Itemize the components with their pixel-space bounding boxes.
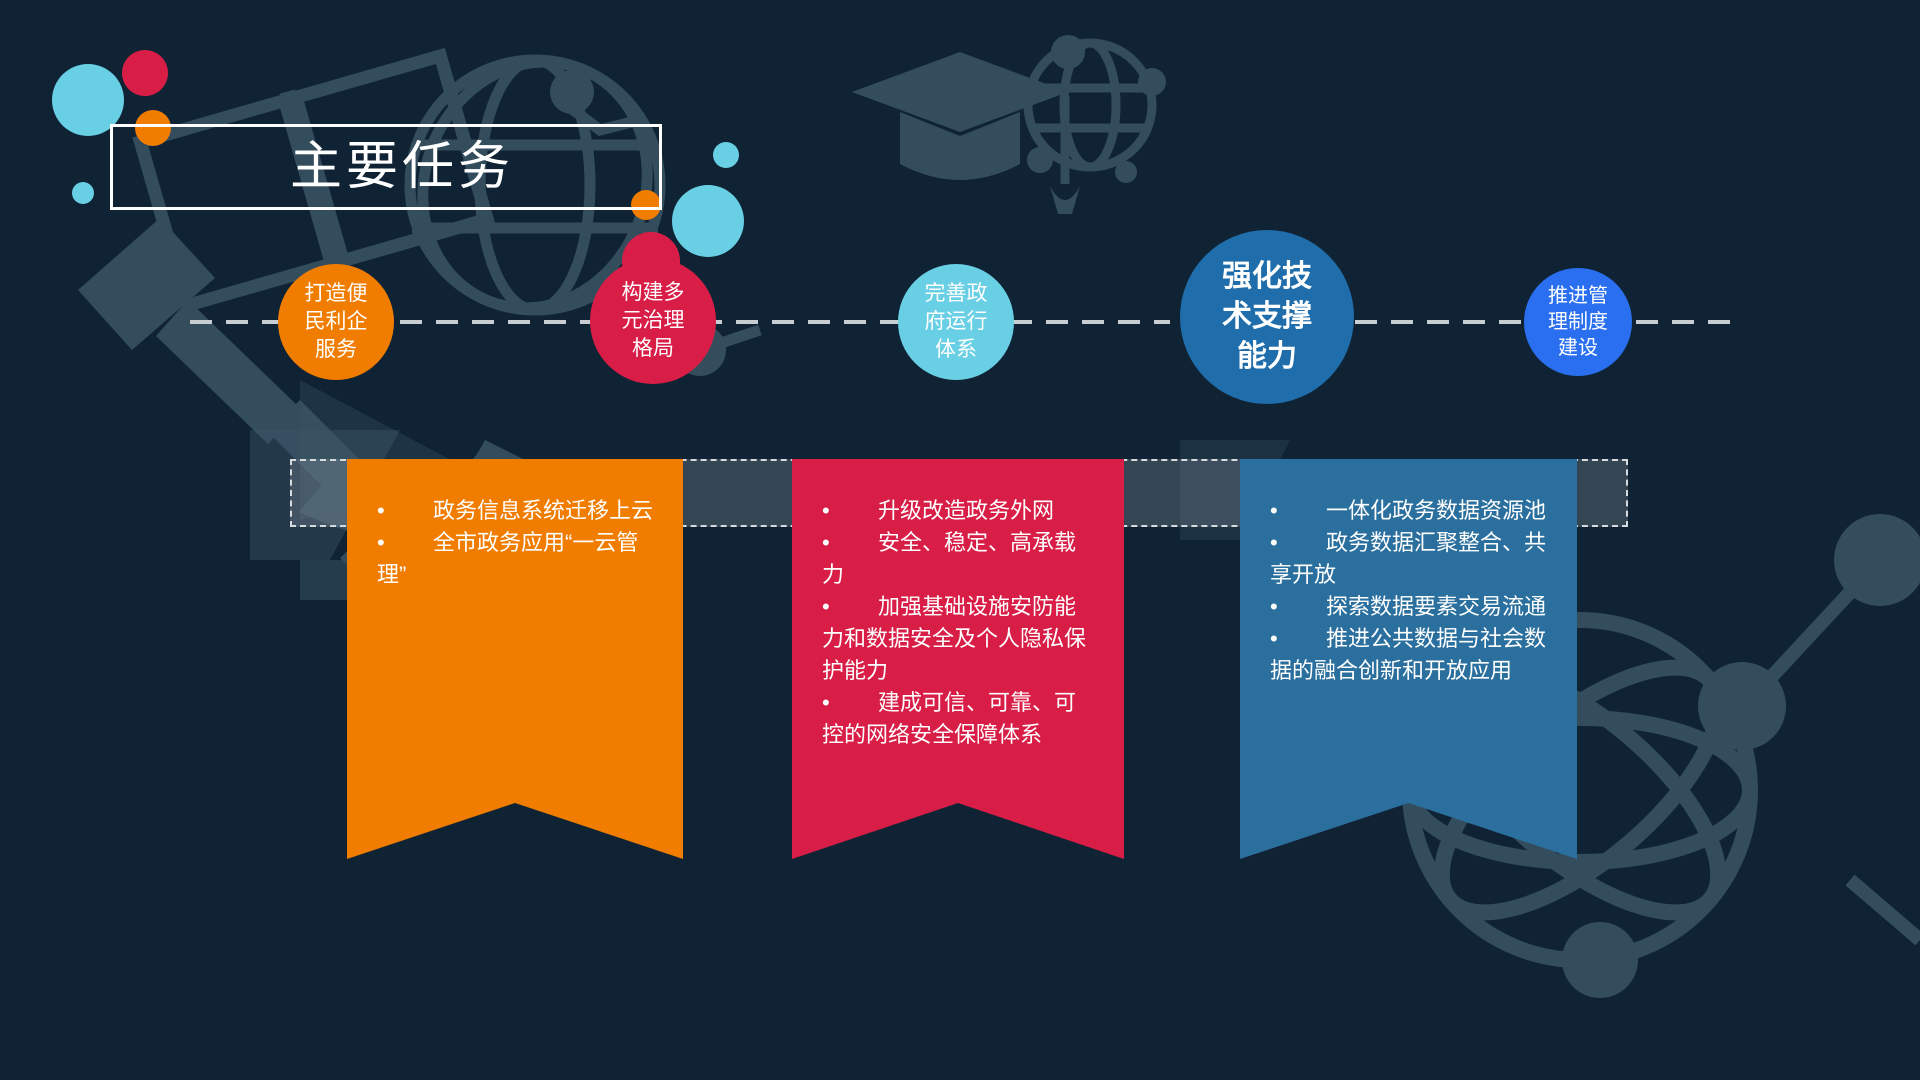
timeline-node-2-label: 构建多 元治理 格局 [622,279,685,363]
list-item: •推进公共数据与社会数据的融合创新和开放应用 [1270,623,1547,687]
graduation-cap-icon [852,52,1080,214]
decor-cyan-small-circle [72,182,94,204]
bullet-icon: • [1270,495,1326,527]
timeline-node-3-label: 完善政 府运行 体系 [925,280,988,364]
bullet-icon: • [377,527,433,559]
bullet-icon: • [1270,623,1326,655]
list-item-text: 升级改造政务外网 [878,498,1054,523]
timeline-node-1-label: 打造便 民利企 服务 [305,280,368,364]
list-item: •建成可信、可靠、可控的网络安全保障体系 [822,687,1094,751]
timeline-node-4-active[interactable]: 强化技 术支撑 能力 [1180,230,1354,404]
ribbon-card-2: •升级改造政务外网 •安全、稳定、高承载力 •加强基础设施安防能力和数据安全及个… [792,459,1124,859]
list-item-text: 探索数据要素交易流通 [1326,594,1546,619]
bullet-icon: • [822,687,878,719]
ribbon-card-3: •一体化政务数据资源池 •政务数据汇聚整合、共享开放 •探索数据要素交易流通 •… [1240,459,1577,859]
timeline-segment [1355,320,1525,324]
bullet-icon: • [377,495,433,527]
list-item: •一体化政务数据资源池 [1270,495,1547,527]
ribbon-card-3-list: •一体化政务数据资源池 •政务数据汇聚整合、共享开放 •探索数据要素交易流通 •… [1270,495,1547,687]
timeline-segment [1010,320,1170,324]
timeline-node-4-label: 强化技 术支撑 能力 [1222,257,1312,377]
timeline-segment [700,320,900,324]
list-item: •加强基础设施安防能力和数据安全及个人隐私保护能力 [822,591,1094,687]
network-globe-icon [1028,43,1152,167]
list-item: •政务数据汇聚整合、共享开放 [1270,527,1547,591]
slide-canvas: 主要任务 打造便 民利企 服务 构建多 元治理 格局 完善政 府运行 体系 强化… [0,0,1920,1080]
page-title: 主要任务 [290,129,514,205]
timeline-node-5[interactable]: 推进管 理制度 建设 [1524,268,1632,376]
ribbon-card-2-list: •升级改造政务外网 •安全、稳定、高承载力 •加强基础设施安防能力和数据安全及个… [822,495,1094,751]
list-item-text: 一体化政务数据资源池 [1326,498,1546,523]
ribbon-card-1-list: •政务信息系统迁移上云 •全市政务应用“一云管理” [377,495,653,591]
list-item: •政务信息系统迁移上云 [377,495,653,527]
decor-cyan-mid-circle [713,142,739,168]
list-item: •探索数据要素交易流通 [1270,591,1547,623]
ribbon-card-1: •政务信息系统迁移上云 •全市政务应用“一云管理” [347,459,683,859]
bullet-icon: • [822,591,878,623]
decor-cyan-xl-circle [672,185,744,257]
timeline-node-3[interactable]: 完善政 府运行 体系 [898,264,1014,380]
timeline-node-2[interactable]: 构建多 元治理 格局 [590,258,716,384]
bullet-icon: • [1270,527,1326,559]
bullet-icon: • [822,527,878,559]
bullet-icon: • [1270,591,1326,623]
timeline-segment [400,320,600,324]
list-item: •全市政务应用“一云管理” [377,527,653,591]
list-item-text: 政务信息系统迁移上云 [433,498,653,523]
bullet-icon: • [822,495,878,527]
list-item: •安全、稳定、高承载力 [822,527,1094,591]
list-item: •升级改造政务外网 [822,495,1094,527]
timeline-node-1[interactable]: 打造便 民利企 服务 [278,264,394,380]
timeline-node-5-label: 推进管 理制度 建设 [1548,283,1608,361]
decor-red-circle [122,50,168,96]
